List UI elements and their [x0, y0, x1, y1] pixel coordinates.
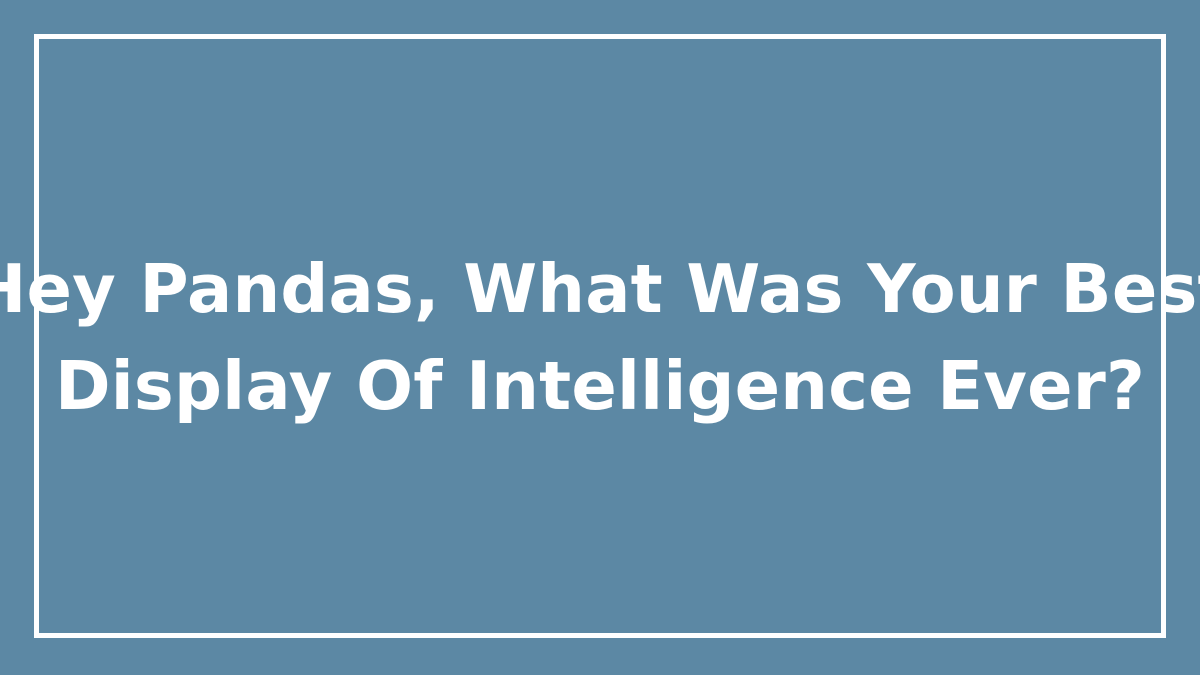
page-title-line-1: Hey Pandas, What Was Your Best	[0, 241, 1200, 338]
page-title-line-2: Display Of Intelligence Ever?	[55, 338, 1145, 435]
page-title: Hey Pandas, What Was Your Best Display O…	[0, 0, 1200, 675]
poster-canvas: Hey Pandas, What Was Your Best Display O…	[0, 0, 1200, 675]
